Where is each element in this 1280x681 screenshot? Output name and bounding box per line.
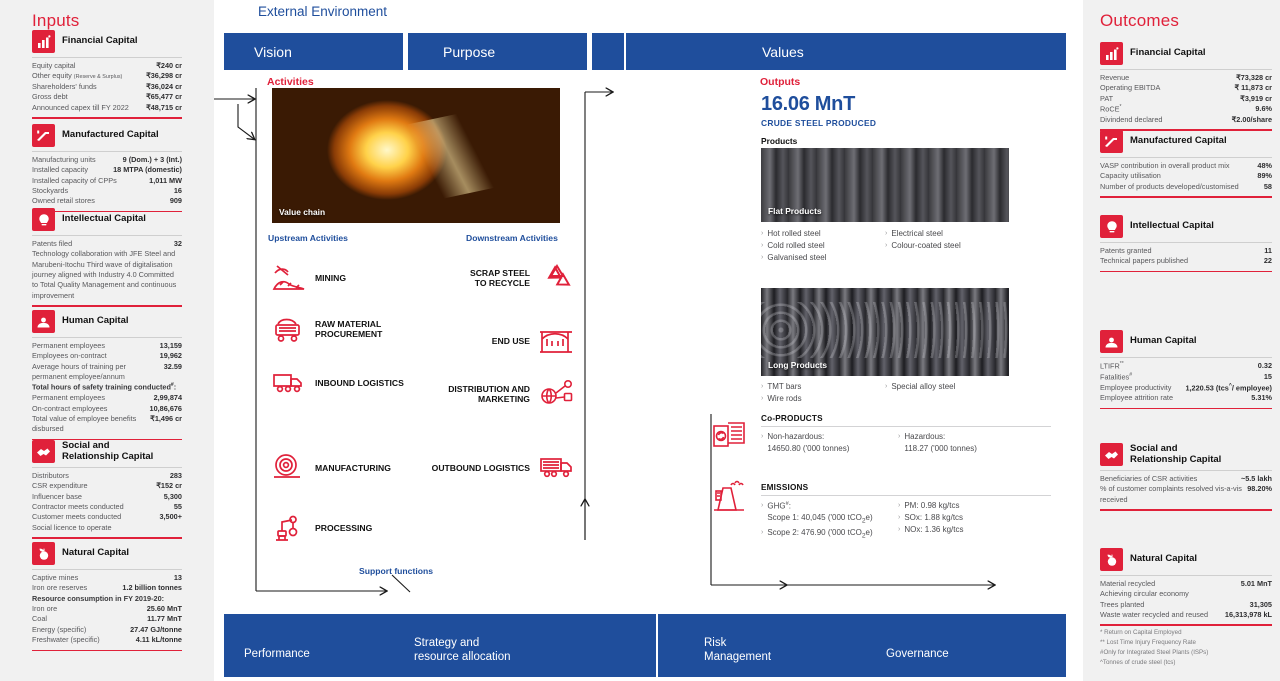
capital-row: Other equity (Reserve & Surplus)₹36,298 … <box>32 71 182 82</box>
header-purpose-label: Purpose <box>443 44 495 60</box>
capital-row-key: Employees on-contract <box>32 351 155 361</box>
header-purpose[interactable]: Purpose <box>408 33 587 70</box>
capital-header: Intellectual Capital <box>32 208 182 231</box>
chevron-right-icon: › <box>885 228 887 240</box>
handshake-icon <box>32 440 55 463</box>
capital-row-key: On-contract employees <box>32 404 145 414</box>
capital-header: Manufactured Capital <box>32 124 182 147</box>
capital-row-value: 909 <box>170 196 182 206</box>
activity-label: DISTRIBUTION AND MARKETING <box>214 384 530 405</box>
capital-row: Gross debt₹65,477 cr <box>32 92 182 102</box>
network-distribution-icon <box>539 378 579 410</box>
capital-row-key: Stockyards <box>32 186 169 196</box>
output-text: Scope 2: 476.90 ('000 tCO2e) <box>767 527 872 541</box>
inputs-panel: Inputs Financial CapitalEquity capital₹2… <box>0 0 214 681</box>
capital-row-key: Technical papers published <box>1100 256 1259 266</box>
capital-row-value: ₹240 cr <box>156 61 182 71</box>
capital-header: Social andRelationship Capital <box>1100 443 1272 466</box>
bullet-text: TMT bars <box>767 381 801 393</box>
capital-row: Patents filed32 <box>32 239 182 249</box>
bullet-column: ›Special alloy steel <box>885 381 1009 405</box>
chevron-right-icon: › <box>761 240 763 252</box>
capital-row: Permanent employees2,99,874 <box>32 393 182 403</box>
output-text: Non-hazardous: 14650.80 ('000 tonnes) <box>767 431 849 454</box>
divider-accent <box>1100 509 1272 511</box>
capital-row: Iron ore25.60 MnT <box>32 604 182 614</box>
outcomes-capital: Financial CapitalRevenue₹73,328 crOperat… <box>1100 42 1272 131</box>
capital-row-key: Energy (specific) <box>32 625 125 635</box>
output-item: ›Scope 2: 476.90 ('000 tCO2e) <box>761 527 898 541</box>
capital-row: CSR expenditure₹152 cr <box>32 481 182 491</box>
capital-row: Customer meets conducted3,500+ <box>32 512 182 522</box>
bullet-text: Colour-coated steel <box>891 240 960 252</box>
people-group-icon <box>32 310 55 333</box>
capital-header: Manufactured Capital <box>1100 130 1272 153</box>
capital-row: Employees on-contract19,962 <box>32 351 182 361</box>
capital-row: Captive mines13 <box>32 573 182 583</box>
divider <box>761 495 1051 496</box>
capital-row-key: Achieving circular economy <box>1100 589 1272 599</box>
capital-row-value: 5.01 MnT <box>1241 579 1272 589</box>
photo-texture <box>761 302 1009 358</box>
outputs-label: Outputs <box>760 76 800 88</box>
capital-name: Intellectual Capital <box>1130 221 1214 232</box>
chevron-right-icon: › <box>761 527 763 541</box>
output-text: NOx: 1.36 kg/tcs <box>904 524 963 536</box>
inputs-capital: Manufactured CapitalManufacturing units9… <box>32 124 182 212</box>
capital-block-manufactured-capital: Manufactured CapitalManufacturing units9… <box>32 124 182 212</box>
activity-label: OUTBOUND LOGISTICS <box>214 463 530 473</box>
capital-row-value: ~5.5 lakh <box>1241 474 1272 484</box>
divider-accent <box>32 537 182 539</box>
capital-row-value: ₹73,328 cr <box>1236 73 1272 83</box>
chevron-right-icon: › <box>761 393 763 405</box>
chevron-right-icon: › <box>898 512 900 524</box>
inputs-title: Inputs <box>32 11 80 31</box>
chevron-right-icon: › <box>761 381 763 393</box>
capital-row-value: 1,011 MW <box>149 176 182 186</box>
capital-name: Intellectual Capital <box>62 214 146 225</box>
capital-block-manufactured-capital: Manufactured CapitalVASP contribution in… <box>1100 130 1272 198</box>
capital-row-key: Other equity (Reserve & Surplus) <box>32 71 141 82</box>
capital-row-key: Patents granted <box>1100 246 1259 256</box>
capital-header: Natural Capital <box>1100 548 1272 571</box>
center-diagram: External Environment Vision Purpose Valu… <box>214 0 1083 681</box>
capital-row: Employee productivity1,220.53 (tcs^/ emp… <box>1100 383 1272 394</box>
capital-row: Freshwater (specific)4.11 kL/tonne <box>32 635 182 645</box>
divider-accent <box>32 650 182 652</box>
products-label: Products <box>761 136 797 146</box>
capital-row: Fatalities#15 <box>1100 372 1272 383</box>
bullet-text: Electrical steel <box>891 228 943 240</box>
capital-row: Installed capacity18 MTPA (domestic) <box>32 165 182 175</box>
divider-accent <box>1100 624 1272 626</box>
capital-row: Permanent employees13,159 <box>32 341 182 351</box>
capital-row-value: 283 <box>170 471 182 481</box>
capital-row: Stockyards16 <box>32 186 182 196</box>
bottom-bar-strategy: Strategy and resource allocation <box>414 636 511 665</box>
capital-row-key: Contractor meets conducted <box>32 502 169 512</box>
capital-row: Divindend declared₹2.00/share <box>1100 115 1272 125</box>
capital-row-key: CSR expenditure <box>32 481 151 491</box>
capital-row-value: 13,159 <box>160 341 182 351</box>
header-values-spacer <box>592 33 624 70</box>
bottom-bar-left[interactable]: Performance Strategy and resource alloca… <box>224 614 656 677</box>
capital-block-financial-capital: Financial CapitalEquity capital₹240 crOt… <box>32 30 182 119</box>
header-values-label: Values <box>762 44 804 60</box>
capital-row: Revenue₹73,328 cr <box>1100 73 1272 83</box>
capital-row: Installed capacity of CPPs1,011 MW <box>32 176 182 186</box>
divider <box>1100 157 1272 158</box>
bullet-item: ›Wire rods <box>761 393 885 405</box>
capital-row: Contractor meets conducted55 <box>32 502 182 512</box>
divider-accent <box>1100 408 1272 410</box>
output-item: ›SOx: 1.88 kg/tcs <box>898 512 1035 524</box>
output-item: ›GHG#: Scope 1: 40,045 ('000 tCO2e) <box>761 500 898 527</box>
capital-row: PAT₹3,919 cr <box>1100 94 1272 104</box>
output-item: ›Non-hazardous: 14650.80 ('000 tonnes) <box>761 431 898 454</box>
capital-header: Human Capital <box>1100 330 1272 353</box>
chimney-smoke-icon <box>709 478 749 519</box>
outcomes-capital: Intellectual CapitalPatents granted11Tec… <box>1100 215 1272 272</box>
capital-row-key: Influencer base <box>32 492 159 502</box>
capital-row-value: 19,962 <box>160 351 182 361</box>
capital-row: Shareholders' funds₹36,024 cr <box>32 82 182 92</box>
capital-row-key: Revenue <box>1100 73 1231 83</box>
activity-item-upstream[interactable]: PROCESSING <box>272 512 372 544</box>
header-vision-label: Vision <box>254 44 292 60</box>
capital-name: Human Capital <box>62 316 129 327</box>
inputs-capital: Financial CapitalEquity capital₹240 crOt… <box>32 30 182 119</box>
outcomes-title: Outcomes <box>1100 11 1179 31</box>
bullet-item: ›TMT bars <box>761 381 885 393</box>
capital-row-value: ₹48,715 cr <box>146 103 182 113</box>
header-vision[interactable]: Vision <box>224 33 403 70</box>
flat-products-caption: Flat Products <box>768 206 822 216</box>
capital-row: Achieving circular economy <box>1100 589 1272 599</box>
capital-row-value: ₹65,477 cr <box>146 92 182 102</box>
capital-row-key: Announced capex till FY 2022 <box>32 103 141 113</box>
footnote: #Only for Integrated Steel Plants (ISPs) <box>1100 648 1272 658</box>
capital-row-value: 18 MTPA (domestic) <box>113 165 182 175</box>
capital-row: Owned retail stores909 <box>32 196 182 206</box>
capital-row-key: Total value of employee benefits disburs… <box>32 414 145 435</box>
capital-block-financial-capital: Financial CapitalRevenue₹73,328 crOperat… <box>1100 42 1272 131</box>
capital-row: VASP contribution in overall product mix… <box>1100 161 1272 171</box>
chevron-right-icon: › <box>761 431 763 454</box>
bullet-column: ›TMT bars›Wire rods <box>761 381 885 405</box>
outcomes-capital: Human CapitalLTIFR**0.32Fatalities#15Emp… <box>1100 330 1272 409</box>
capital-row: % of customer complaints resolved vis-a-… <box>1100 484 1272 505</box>
capital-row: Average hours of training per permanent … <box>32 362 182 383</box>
capital-header: Human Capital <box>32 310 182 333</box>
capital-header: Intellectual Capital <box>1100 215 1272 238</box>
activity-item-downstream[interactable]: OUTBOUND LOGISTICS <box>214 455 579 481</box>
group-heading: Co-PRODUCTS <box>761 414 1051 423</box>
divider-accent <box>1100 196 1272 198</box>
co-products-icon <box>711 418 747 457</box>
capital-row: Manufacturing units9 (Dom.) + 3 (Int.) <box>32 155 182 165</box>
capital-row-key: Iron ore <box>32 604 142 614</box>
capital-row: Social licence to operate <box>32 523 182 533</box>
divider <box>32 57 182 58</box>
activity-item-downstream[interactable]: DISTRIBUTION AND MARKETING <box>214 378 579 410</box>
recycle-icon <box>539 262 579 294</box>
divider <box>1100 69 1272 70</box>
capital-row: Waste water recycled and reused16,313,97… <box>1100 610 1272 620</box>
capital-row-value: 31,305 <box>1250 600 1272 610</box>
capital-row-key: Distributors <box>32 471 165 481</box>
bullet-text: Special alloy steel <box>891 381 955 393</box>
capital-row-key: Waste water recycled and reused <box>1100 610 1220 620</box>
capital-block-social-and-relationship-capital: Social andRelationship CapitalBeneficiar… <box>1100 443 1272 511</box>
capital-row-value: 2,99,874 <box>154 393 182 403</box>
output-text: PM: 0.98 kg/tcs <box>904 500 959 512</box>
inputs-capital: Intellectual CapitalPatents filed32Techn… <box>32 208 182 307</box>
handshake-icon <box>1100 443 1123 466</box>
capital-row-key: Owned retail stores <box>32 196 165 206</box>
capital-block-natural-capital: Natural CapitalMaterial recycled5.01 MnT… <box>1100 548 1272 626</box>
bottom-bar-right[interactable]: Risk Management Governance <box>658 614 1066 677</box>
plant-globe-icon <box>32 542 55 565</box>
capital-row-value: 11 <box>1264 246 1272 256</box>
flat-products-photo: Flat Products <box>761 148 1009 222</box>
capital-row-key: Shareholders' funds <box>32 82 141 92</box>
capital-block-human-capital: Human CapitalLTIFR**0.32Fatalities#15Emp… <box>1100 330 1272 409</box>
capital-row-key: Manufacturing units <box>32 155 118 165</box>
bullet-item: ›Electrical steel <box>885 228 1009 240</box>
capital-row-key: Social licence to operate <box>32 523 182 533</box>
capital-row-key: PAT <box>1100 94 1235 104</box>
capital-row-key: Coal <box>32 614 142 624</box>
outcomes-capital: Social andRelationship CapitalBeneficiar… <box>1100 443 1272 511</box>
bullet-text: Cold rolled steel <box>767 240 824 252</box>
capital-row-value: 1,220.53 (tcs^/ employee) <box>1185 383 1272 394</box>
capital-name: Natural Capital <box>1130 554 1197 565</box>
divider-accent <box>1100 271 1272 273</box>
capital-row-value: 48% <box>1257 161 1272 171</box>
capital-row-key: Iron ore reserves <box>32 583 117 593</box>
capital-row: On-contract employees10,86,676 <box>32 404 182 414</box>
capital-row-key: Material recycled <box>1100 579 1236 589</box>
value-chain-photo: Value chain <box>272 88 560 223</box>
capital-row-value: 5,300 <box>164 492 182 502</box>
support-functions-label: Support functions <box>359 566 433 576</box>
capital-row-key: Installed capacity of CPPs <box>32 176 144 186</box>
activity-item-downstream[interactable]: SCRAP STEEL TO RECYCLE <box>214 262 579 294</box>
bullet-text: Galvanised steel <box>767 252 826 264</box>
divider <box>1100 470 1272 471</box>
capital-row-value: 0.32 <box>1258 361 1272 371</box>
capital-row-key: Equity capital <box>32 61 151 71</box>
group-columns: ›Non-hazardous: 14650.80 ('000 tonnes)›H… <box>761 431 1051 454</box>
chevron-right-icon: › <box>885 381 887 393</box>
external-environment-label: External Environment <box>258 4 387 19</box>
capital-row-key: Beneficiaries of CSR activities <box>1100 474 1236 484</box>
chevron-right-icon: › <box>898 500 900 512</box>
inputs-capital: Human CapitalPermanent employees13,159Em… <box>32 310 182 440</box>
divider <box>1100 575 1272 576</box>
plant-globe-icon <box>1100 548 1123 571</box>
capital-row-key: Captive mines <box>32 573 169 583</box>
capital-block-human-capital: Human CapitalPermanent employees13,159Em… <box>32 310 182 440</box>
capital-header: Financial Capital <box>32 30 182 53</box>
capital-row-key: Gross debt <box>32 92 141 102</box>
capital-row-key: % of customer complaints resolved vis-a-… <box>1100 484 1242 505</box>
capital-row-value: ₹1,496 cr <box>150 414 182 424</box>
output-column: ›PM: 0.98 kg/tcs›SOx: 1.88 kg/tcs›NOx: 1… <box>898 500 1035 541</box>
bridge-icon <box>539 326 579 356</box>
capital-row-value: ₹3,919 cr <box>1240 94 1272 104</box>
capital-row-key: Freshwater (specific) <box>32 635 131 645</box>
capital-row-key: VASP contribution in overall product mix <box>1100 161 1252 171</box>
divider <box>32 151 182 152</box>
capital-row-value: ₹ 11,873 cr <box>1234 83 1272 93</box>
capital-row-value: 16,313,978 kL <box>1225 610 1272 620</box>
divider <box>32 235 182 236</box>
capital-name: Manufactured Capital <box>1130 136 1227 147</box>
factory-crane-icon <box>1100 130 1123 153</box>
chevron-right-icon: › <box>898 524 900 536</box>
photo-glow <box>360 103 523 212</box>
capital-row-key: Fatalities# <box>1100 372 1259 383</box>
activity-label: END USE <box>214 336 530 346</box>
activity-item-downstream[interactable]: END USE <box>214 326 579 356</box>
long-products-caption: Long Products <box>768 360 827 370</box>
capital-row-key: Average hours of training per permanent … <box>32 362 159 383</box>
delivery-truck-icon <box>539 455 579 481</box>
capital-row-value: 4.11 kL/tonne <box>136 635 182 645</box>
capital-row-value: ₹152 cr <box>156 481 182 491</box>
capital-row-key: Patents filed <box>32 239 169 249</box>
capital-row-value: ₹36,024 cr <box>146 82 182 92</box>
capital-row-value: ₹36,298 cr <box>146 71 182 81</box>
output-item: ›Hazardous: 118.27 ('000 tonnes) <box>898 431 1035 454</box>
divider <box>1100 242 1272 243</box>
capital-row: Number of products developed/customised5… <box>1100 182 1272 192</box>
people-group-icon <box>1100 330 1123 353</box>
capital-row-key: Operating EBITDA <box>1100 83 1229 93</box>
output-item: ›NOx: 1.36 kg/tcs <box>898 524 1035 536</box>
capital-name: Social andRelationship Capital <box>1130 444 1221 466</box>
chevron-right-icon: › <box>761 500 763 527</box>
capital-row-key: Number of products developed/customised <box>1100 182 1259 192</box>
robot-arm-icon <box>272 512 306 544</box>
long-products-bullets: ›TMT bars›Wire rods›Special alloy steel <box>761 381 1009 405</box>
capital-row-value: 16 <box>174 186 182 196</box>
capital-row-value: 98.20% <box>1247 484 1272 494</box>
group-heading: EMISSIONS <box>761 483 1051 492</box>
capital-row-key: Divindend declared <box>1100 115 1227 125</box>
emissions-group: EMISSIONS›GHG#: Scope 1: 40,045 ('000 tC… <box>761 483 1051 541</box>
outcomes-capital: Manufactured CapitalVASP contribution in… <box>1100 130 1272 198</box>
capital-row: Energy (specific)27.47 GJ/tonne <box>32 625 182 635</box>
capital-row-value: 55 <box>174 502 182 512</box>
flat-products-bullets: ›Hot rolled steel›Cold rolled steel›Galv… <box>761 228 1009 264</box>
downstream-activities-label: Downstream Activities <box>466 233 558 243</box>
capital-block-social-and-relationship-capital: Social andRelationship CapitalDistributo… <box>32 440 182 539</box>
capital-row-value: 11.77 MnT <box>147 614 182 624</box>
capital-row-key: LTIFR** <box>1100 361 1253 372</box>
capital-subheading: Total hours of safety training conducted… <box>32 382 182 393</box>
lightbulb-head-icon <box>1100 215 1123 238</box>
capital-row-value: 22 <box>1264 256 1272 266</box>
capital-header: Financial Capital <box>1100 42 1272 65</box>
capital-row-key: Employee productivity <box>1100 383 1180 393</box>
bullet-item: ›Galvanised steel <box>761 252 885 264</box>
divider-accent <box>32 117 182 119</box>
long-products-photo: Long Products <box>761 288 1009 376</box>
capital-row: Iron ore reserves1.2 billion tonnes <box>32 583 182 593</box>
upstream-activities-label: Upstream Activities <box>268 233 348 243</box>
capital-row-value: 5.31% <box>1251 393 1272 403</box>
capital-header: Natural Capital <box>32 542 182 565</box>
capital-row: Distributors283 <box>32 471 182 481</box>
capital-row: Beneficiaries of CSR activities~5.5 lakh <box>1100 474 1272 484</box>
capital-name: Manufactured Capital <box>62 130 159 141</box>
output-column: ›Hazardous: 118.27 ('000 tonnes) <box>898 431 1035 454</box>
bullet-text: Wire rods <box>767 393 801 405</box>
bullet-item: ›Hot rolled steel <box>761 228 885 240</box>
chevron-right-icon: › <box>761 228 763 240</box>
capital-block-natural-capital: Natural CapitalCaptive mines13Iron ore r… <box>32 542 182 651</box>
output-text: Hazardous: 118.27 ('000 tonnes) <box>904 431 977 454</box>
lightbulb-head-icon <box>32 208 55 231</box>
header-values[interactable]: Values <box>626 33 1066 70</box>
bar-chart-icon <box>1100 42 1123 65</box>
capital-row-key: Installed capacity <box>32 165 108 175</box>
divider <box>32 569 182 570</box>
crude-steel-caption: CRUDE STEEL PRODUCED <box>761 118 876 128</box>
capital-row: Technical papers published22 <box>1100 256 1272 266</box>
capital-row-value: 32.59 <box>164 362 182 372</box>
capital-row: RoCE*9.6% <box>1100 104 1272 115</box>
factory-crane-icon <box>32 124 55 147</box>
inputs-capital: Social andRelationship CapitalDistributo… <box>32 440 182 539</box>
capital-name: Natural Capital <box>62 548 129 559</box>
capital-name: Social andRelationship Capital <box>62 441 153 463</box>
capital-name: Financial Capital <box>62 36 138 47</box>
bar-chart-icon <box>32 30 55 53</box>
output-text: GHG#: Scope 1: 40,045 ('000 tCO2e) <box>767 500 872 527</box>
capital-row-value: 13 <box>174 573 182 583</box>
footnote: * Return on Capital Employed <box>1100 628 1272 638</box>
chevron-right-icon: › <box>761 252 763 264</box>
bullet-item: ›Special alloy steel <box>885 381 1009 393</box>
capital-row: Trees planted31,305 <box>1100 600 1272 610</box>
capital-row: Coal11.77 MnT <box>32 614 182 624</box>
capital-row-value: 89% <box>1257 171 1272 181</box>
activity-label: SCRAP STEEL TO RECYCLE <box>214 268 530 289</box>
divider <box>761 426 1051 427</box>
capital-row-value: 25.60 MnT <box>147 604 182 614</box>
capital-row-key: Permanent employees <box>32 341 155 351</box>
capital-row: Patents granted11 <box>1100 246 1272 256</box>
bullet-item: ›Colour-coated steel <box>885 240 1009 252</box>
output-column: ›GHG#: Scope 1: 40,045 ('000 tCO2e)›Scop… <box>761 500 898 541</box>
capital-row: LTIFR**0.32 <box>1100 361 1272 372</box>
divider <box>32 337 182 338</box>
bottom-bar-risk: Risk Management <box>704 636 771 665</box>
divider-accent <box>32 305 182 307</box>
capital-row-key: Employee attrition rate <box>1100 393 1246 403</box>
bottom-bar-governance: Governance <box>886 647 949 661</box>
co-products-group: Co-PRODUCTS›Non-hazardous: 14650.80 ('00… <box>761 414 1051 454</box>
capital-row: Operating EBITDA₹ 11,873 cr <box>1100 83 1272 93</box>
capital-row-key: Permanent employees <box>32 393 149 403</box>
capital-row-value: 1.2 billion tonnes <box>122 583 182 593</box>
capital-row-value: 9.6% <box>1255 104 1272 114</box>
